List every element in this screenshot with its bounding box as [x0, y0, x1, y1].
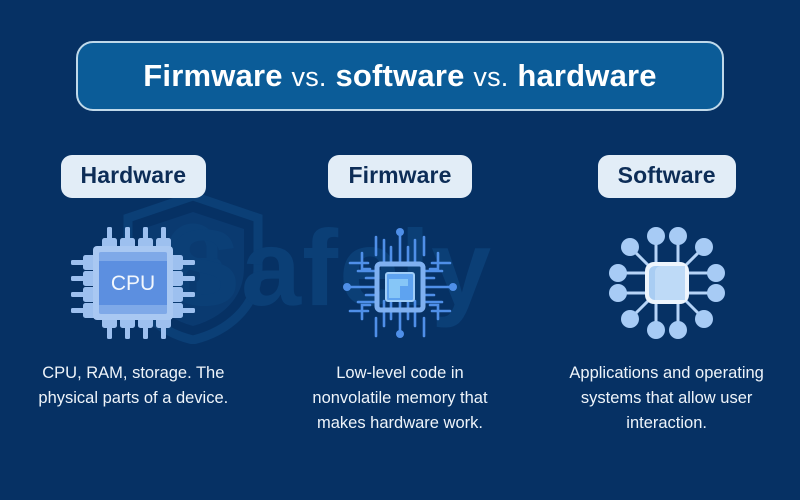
- badge-hardware[interactable]: Hardware: [61, 155, 207, 198]
- title-vs-1: vs.: [292, 62, 327, 92]
- cpu-chip-label: CPU: [111, 272, 155, 295]
- column-firmware: Firmware: [267, 155, 534, 465]
- description-firmware: Low-level code in nonvolatile memory tha…: [300, 361, 500, 436]
- icon-hardware-wrap: CPU: [68, 213, 198, 353]
- badge-software[interactable]: Software: [598, 155, 736, 198]
- page-title-bar: Firmware vs. software vs. hardware: [76, 41, 724, 111]
- cpu-chip-icon: CPU: [68, 224, 198, 342]
- badge-firmware[interactable]: Firmware: [328, 155, 471, 198]
- page-title: Firmware vs. software vs. hardware: [143, 58, 657, 94]
- column-hardware: Hardware: [0, 155, 267, 465]
- title-word-software: software: [335, 58, 464, 93]
- comparison-columns: Hardware: [0, 155, 800, 465]
- description-software: Applications and operating systems that …: [567, 361, 767, 436]
- circuit-chip-icon: [336, 223, 464, 343]
- column-software: Software: [533, 155, 800, 465]
- infographic-canvas: Safely Firmware vs. software vs. hardwar…: [0, 0, 800, 500]
- title-vs-2: vs.: [473, 62, 508, 92]
- node-network-chip-icon: [605, 223, 729, 343]
- icon-software-wrap: [605, 213, 729, 353]
- title-word-firmware: Firmware: [143, 58, 282, 93]
- title-word-hardware: hardware: [517, 58, 656, 93]
- icon-firmware-wrap: [336, 213, 464, 353]
- description-hardware: CPU, RAM, storage. The physical parts of…: [33, 361, 233, 411]
